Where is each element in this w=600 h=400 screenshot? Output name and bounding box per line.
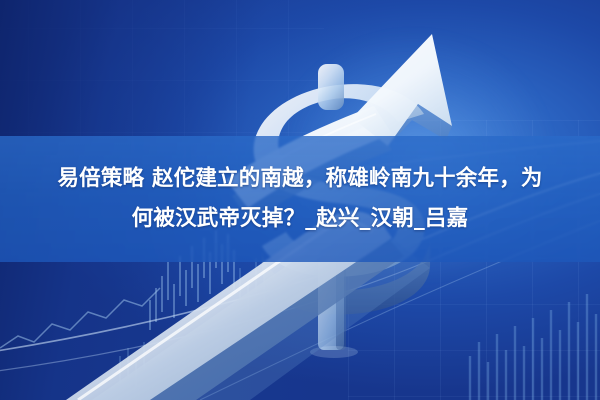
headline-line-1: 易倍策略 赵佗建立的南越，称雄岭南九十余年，为 — [57, 159, 542, 199]
headline-text-block: 易倍策略 赵佗建立的南越，称雄岭南九十余年，为 何被汉武帝灭掉？_赵兴_汉朝_吕… — [0, 136, 600, 262]
headline-line-2: 何被汉武帝灭掉？_赵兴_汉朝_吕嘉 — [132, 199, 469, 239]
finance-news-banner: 易倍策略 赵佗建立的南越，称雄岭南九十余年，为 何被汉武帝灭掉？_赵兴_汉朝_吕… — [0, 0, 600, 400]
